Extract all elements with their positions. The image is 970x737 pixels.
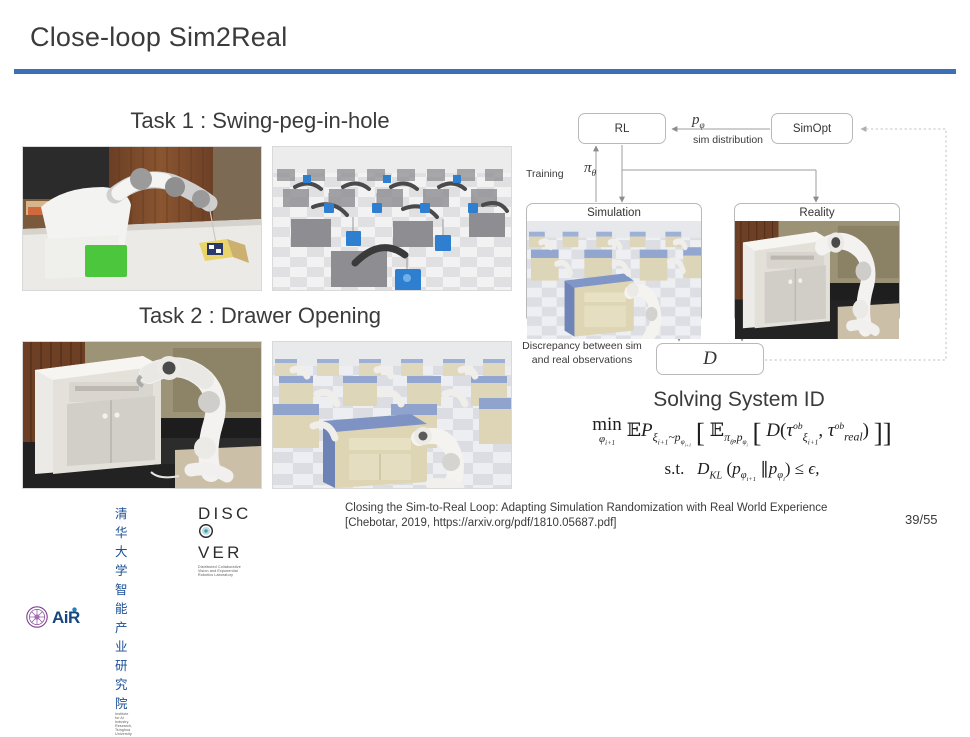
citation-line-2: [Chebotar, 2019, https://arxiv.org/pdf/1… xyxy=(345,516,905,531)
diagram-node-simopt[interactable]: SimOpt xyxy=(771,113,853,144)
title-divider xyxy=(14,69,956,74)
task-1-heading: Task 1 : Swing-peg-in-hole xyxy=(20,108,500,134)
air-text-block: 清华大学智能产业研究院 Institute for AI Industry Re… xyxy=(114,502,133,737)
citation: Closing the Sim-to-Real Loop: Adapting S… xyxy=(345,501,905,531)
diagram-node-d[interactable]: D xyxy=(656,343,764,375)
task-2-heading: Task 2 : Drawer Opening xyxy=(20,303,500,329)
discover-subtitle: Distributed Collaborative Vision and Exp… xyxy=(198,565,251,577)
reality-thumbnail xyxy=(735,221,899,339)
discover-wordmark: DISC VER xyxy=(198,504,251,563)
page-number: 39/55 xyxy=(905,512,938,527)
subject-to-label: s.t. xyxy=(665,459,685,478)
task-2-sim-photo xyxy=(272,341,512,489)
slide-canvas: Close-loop Sim2Real Task 1 : Swing-peg-i… xyxy=(0,0,970,544)
equation-constraint: s.t. DKL (pφi+1 ∥pφi) ≤ ϵ, xyxy=(520,459,964,484)
reality-caption: Reality xyxy=(735,204,899,221)
bracket-close-outer: ] xyxy=(883,418,892,448)
min-operator: min φi+1 xyxy=(592,415,622,448)
task-1-image-row xyxy=(22,146,512,291)
simopt-loop-diagram: RL SimOpt pφ sim distribution Training π… xyxy=(516,108,962,383)
air-wordmark: AiR xyxy=(52,502,114,737)
label-sim-distribution: sim distribution xyxy=(674,134,782,146)
citation-line-1: Closing the Sim-to-Real Loop: Adapting S… xyxy=(345,501,905,516)
task-1-real-photo xyxy=(22,146,262,291)
equation-objective: min φi+1 𝔼Pξi+1~pφi+1 [ 𝔼πθ,pφi [ D(τobξ… xyxy=(520,415,964,449)
task-2-real-photo xyxy=(22,341,262,489)
air-seal-icon xyxy=(26,502,52,737)
d-symbol: D xyxy=(703,348,717,370)
air-english-name: Institute for AI Industry Research, Tsin… xyxy=(115,712,132,736)
label-training: Training xyxy=(526,168,564,180)
discover-o-icon xyxy=(199,524,213,543)
system-id-equation: min φi+1 𝔼Pξi+1~pφi+1 [ 𝔼πθ,pφi [ D(τobξ… xyxy=(520,415,964,483)
logo-discover: DISC VER Distributed Collaborative Visio… xyxy=(198,504,251,577)
diagram-node-simulation[interactable]: Simulation xyxy=(526,203,702,323)
simulation-thumbnail xyxy=(527,221,701,339)
bracket-open-outer: [ xyxy=(696,418,705,448)
label-discrepancy: Discrepancy between sim and real observa… xyxy=(516,339,648,367)
task-1-sim-photo xyxy=(272,146,512,291)
label-pi-theta: πθ xyxy=(584,160,596,179)
expectation-symbol: 𝔼 xyxy=(627,419,641,441)
task-2-image-row xyxy=(22,341,512,489)
air-chinese-name: 清华大学智能产业研究院 xyxy=(115,503,132,712)
bracket-close-inner: ] xyxy=(874,418,883,448)
page-title: Close-loop Sim2Real xyxy=(30,22,287,53)
label-p-phi: pφ xyxy=(692,112,705,131)
logo-air: AiR 清华大学智能产业研究院 Institute for AI Industr… xyxy=(26,502,133,737)
diagram-node-rl[interactable]: RL xyxy=(578,113,666,144)
simulation-caption: Simulation xyxy=(527,204,701,221)
solving-system-id-heading: Solving System ID xyxy=(516,388,962,412)
bracket-open-inner: [ xyxy=(753,418,762,448)
diagram-node-reality[interactable]: Reality xyxy=(734,203,900,323)
